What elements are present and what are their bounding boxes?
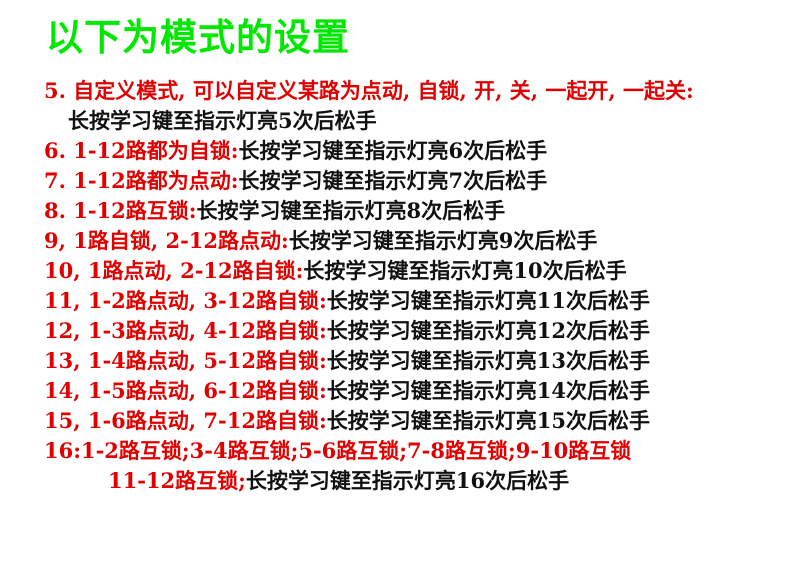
list-item-line: 11, 1-2路点动, 3-12路自锁:长按学习键至指示灯亮11次后松手 — [0, 286, 796, 316]
mode-label-text: 8. 1-12路互锁: — [44, 198, 197, 223]
list-item-line: 长按学习键至指示灯亮5次后松手 — [0, 106, 796, 136]
list-item: 11, 1-2路点动, 3-12路自锁:长按学习键至指示灯亮11次后松手 — [0, 286, 796, 316]
mode-label-text: 11-12路互锁; — [108, 468, 246, 493]
list-item: 14, 1-5路点动, 6-12路自锁:长按学习键至指示灯亮14次后松手 — [0, 376, 796, 406]
list-item: 15, 1-6路点动, 7-12路自锁:长按学习键至指示灯亮15次后松手 — [0, 406, 796, 436]
mode-instruction-text: 长按学习键至指示灯亮14次后松手 — [327, 378, 650, 403]
mode-label-text: 9, 1路自锁, 2-12路点动: — [44, 228, 289, 253]
mode-label-text: 5. 自定义模式, 可以自定义某路为点动, 自锁, 开, 关, 一起开, 一起关… — [44, 78, 694, 103]
slide-canvas: 以下为模式的设置 5. 自定义模式, 可以自定义某路为点动, 自锁, 开, 关,… — [0, 0, 796, 581]
mode-instruction-text: 长按学习键至指示灯亮8次后松手 — [197, 198, 506, 223]
mode-instruction-text: 长按学习键至指示灯亮7次后松手 — [239, 168, 548, 193]
list-item: 12, 1-3路点动, 4-12路自锁:长按学习键至指示灯亮12次后松手 — [0, 316, 796, 346]
mode-label-text: 14, 1-5路点动, 6-12路自锁: — [44, 378, 327, 403]
list-item-line: 7. 1-12路都为点动:长按学习键至指示灯亮7次后松手 — [0, 166, 796, 196]
list-item: 13, 1-4路点动, 5-12路自锁:长按学习键至指示灯亮13次后松手 — [0, 346, 796, 376]
list-item: 6. 1-12路都为自锁:长按学习键至指示灯亮6次后松手 — [0, 136, 796, 166]
mode-instruction-text: 长按学习键至指示灯亮11次后松手 — [327, 288, 650, 313]
list-item-line: 5. 自定义模式, 可以自定义某路为点动, 自锁, 开, 关, 一起开, 一起关… — [0, 76, 796, 106]
mode-label-text: 10, 1路点动, 2-12路自锁: — [44, 258, 303, 283]
list-item-line: 12, 1-3路点动, 4-12路自锁:长按学习键至指示灯亮12次后松手 — [0, 316, 796, 346]
list-item: 5. 自定义模式, 可以自定义某路为点动, 自锁, 开, 关, 一起开, 一起关… — [0, 76, 796, 136]
list-item-line: 9, 1路自锁, 2-12路点动:长按学习键至指示灯亮9次后松手 — [0, 226, 796, 256]
mode-instruction-text: 长按学习键至指示灯亮10次后松手 — [303, 258, 626, 283]
mode-label-text: 6. 1-12路都为自锁: — [44, 138, 239, 163]
list-item-line: 15, 1-6路点动, 7-12路自锁:长按学习键至指示灯亮15次后松手 — [0, 406, 796, 436]
mode-label-text: 12, 1-3路点动, 4-12路自锁: — [44, 318, 327, 343]
mode-instruction-text: 长按学习键至指示灯亮16次后松手 — [246, 468, 569, 493]
list-item: 8. 1-12路互锁:长按学习键至指示灯亮8次后松手 — [0, 196, 796, 226]
list-item: 7. 1-12路都为点动:长按学习键至指示灯亮7次后松手 — [0, 166, 796, 196]
mode-instruction-text: 长按学习键至指示灯亮9次后松手 — [289, 228, 598, 253]
list-item-line: 14, 1-5路点动, 6-12路自锁:长按学习键至指示灯亮14次后松手 — [0, 376, 796, 406]
page-title: 以下为模式的设置 — [46, 14, 350, 60]
mode-instruction-text: 长按学习键至指示灯亮15次后松手 — [327, 408, 650, 433]
list-item-line: 11-12路互锁;长按学习键至指示灯亮16次后松手 — [0, 466, 796, 496]
list-item: 16:1-2路互锁;3-4路互锁;5-6路互锁;7-8路互锁;9-10路互锁11… — [0, 436, 796, 496]
list-item-line: 10, 1路点动, 2-12路自锁:长按学习键至指示灯亮10次后松手 — [0, 256, 796, 286]
mode-label-text: 13, 1-4路点动, 5-12路自锁: — [44, 348, 327, 373]
list-item-line: 13, 1-4路点动, 5-12路自锁:长按学习键至指示灯亮13次后松手 — [0, 346, 796, 376]
mode-label-text: 7. 1-12路都为点动: — [44, 168, 239, 193]
mode-instruction-text: 长按学习键至指示灯亮12次后松手 — [327, 318, 650, 343]
mode-label-text: 11, 1-2路点动, 3-12路自锁: — [44, 288, 327, 313]
mode-label-text: 15, 1-6路点动, 7-12路自锁: — [44, 408, 327, 433]
list-item-line: 8. 1-12路互锁:长按学习键至指示灯亮8次后松手 — [0, 196, 796, 226]
list-item-line: 16:1-2路互锁;3-4路互锁;5-6路互锁;7-8路互锁;9-10路互锁 — [0, 436, 796, 466]
list-item: 10, 1路点动, 2-12路自锁:长按学习键至指示灯亮10次后松手 — [0, 256, 796, 286]
mode-settings-list: 5. 自定义模式, 可以自定义某路为点动, 自锁, 开, 关, 一起开, 一起关… — [0, 76, 796, 496]
mode-instruction-text: 长按学习键至指示灯亮13次后松手 — [327, 348, 650, 373]
list-item: 9, 1路自锁, 2-12路点动:长按学习键至指示灯亮9次后松手 — [0, 226, 796, 256]
mode-instruction-text: 长按学习键至指示灯亮6次后松手 — [239, 138, 548, 163]
mode-instruction-text: 长按学习键至指示灯亮5次后松手 — [68, 108, 377, 133]
list-item-line: 6. 1-12路都为自锁:长按学习键至指示灯亮6次后松手 — [0, 136, 796, 166]
mode-label-text: 16:1-2路互锁;3-4路互锁;5-6路互锁;7-8路互锁;9-10路互锁 — [44, 438, 631, 463]
